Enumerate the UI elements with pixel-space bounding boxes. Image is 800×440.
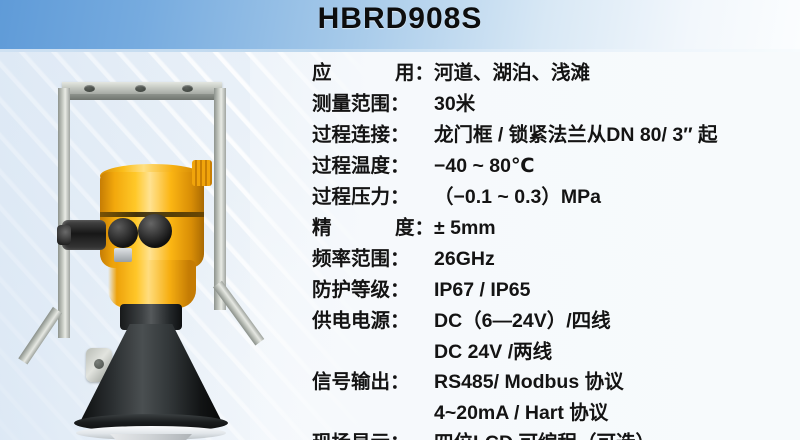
header-band: HBRD908S — [0, 0, 800, 52]
spec-row-measuring-range: 测量范围： 30米 — [312, 89, 782, 120]
spec-value-signal-output-2: 4~20mA / Hart 协议 — [434, 398, 782, 428]
spec-row-process-pressure: 过程压力： （−0.1 ~ 0.3）MPa — [312, 182, 782, 213]
bracket-mount-hole — [135, 85, 146, 92]
cable-gland-right — [138, 214, 172, 248]
spec-label-protection-class: 防护等级： — [312, 275, 434, 306]
bracket-right-post — [214, 88, 226, 310]
housing-vent-fins — [192, 160, 212, 186]
bracket-lower-arm-left — [18, 307, 62, 365]
spec-row-signal-output-continued: 4~20mA / Hart 协议 — [312, 398, 782, 428]
spec-value-signal-output: RS485/ Modbus 协议 — [434, 367, 782, 398]
spec-value-frequency-range: 26GHz — [434, 244, 782, 275]
spec-row-signal-output: 信号输出： RS485/ Modbus 协议 — [312, 367, 782, 398]
spec-label-accuracy: 精度： — [312, 213, 434, 244]
spec-row-accuracy: 精度： ± 5mm — [312, 213, 782, 244]
spec-row-application: 应用： 河道、湖泊、浅滩 — [312, 58, 782, 89]
spec-value-process-pressure: （−0.1 ~ 0.3）MPa — [434, 182, 782, 213]
spec-row-protection-class: 防护等级： IP67 / IP65 — [312, 275, 782, 306]
spec-label-power-supply: 供电电源： — [312, 306, 434, 337]
nameplate — [114, 248, 132, 262]
bracket-left-post — [58, 88, 70, 338]
spec-value-protection-class: IP67 / IP65 — [434, 275, 782, 306]
bracket-mount-hole — [182, 85, 193, 92]
spec-value-local-display: 四位LCD 可编程（可选） — [434, 428, 782, 440]
housing-lower-section — [108, 260, 196, 308]
spec-value-power-supply-2: DC 24V /两线 — [434, 337, 782, 367]
spec-row-power-supply-continued: DC 24V /两线 — [312, 337, 782, 367]
bracket-top-edge — [62, 94, 222, 100]
spec-value-accuracy: ± 5mm — [434, 213, 782, 244]
spec-label-local-display: 现场显示： — [312, 428, 434, 440]
bracket-mount-hole — [84, 85, 95, 92]
spec-value-power-supply: DC（6—24V）/四线 — [434, 306, 782, 337]
spec-label-application: 应用： — [312, 58, 434, 89]
cable-gland-center — [108, 218, 138, 248]
horn-antenna-cone-tip — [110, 434, 192, 440]
spec-label-process-pressure: 过程压力： — [312, 182, 434, 213]
spec-row-power-supply: 供电电源： DC（6—24V）/四线 — [312, 306, 782, 337]
spec-value-measuring-range: 30米 — [434, 89, 782, 120]
product-spec-sheet: HBRD908S 应用： 河 — [0, 0, 800, 440]
spec-label-measuring-range: 测量范围： — [312, 89, 434, 120]
spec-label-frequency-range: 频率范围： — [312, 244, 434, 275]
spec-row-process-connection: 过程连接： 龙门框 / 锁紧法兰从DN 80/ 3″ 起 — [312, 120, 782, 151]
spec-label-signal-output: 信号输出： — [312, 367, 434, 398]
spec-label-process-temperature: 过程温度： — [312, 151, 434, 182]
spec-value-process-connection: 龙门框 / 锁紧法兰从DN 80/ 3″ 起 — [434, 120, 782, 151]
spec-value-process-temperature: −40 ~ 80℃ — [434, 151, 782, 182]
spec-row-frequency-range: 频率范围： 26GHz — [312, 244, 782, 275]
specification-list: 应用： 河道、湖泊、浅滩 测量范围： 30米 过程连接： 龙门框 / 锁紧法兰从… — [312, 58, 782, 440]
spec-row-process-temperature: 过程温度： −40 ~ 80℃ — [312, 151, 782, 182]
spec-value-application: 河道、湖泊、浅滩 — [434, 58, 782, 89]
cable-gland-left — [62, 220, 106, 250]
spec-label-process-connection: 过程连接： — [312, 120, 434, 151]
product-image-radar-level-transmitter — [22, 52, 290, 440]
page-title: HBRD908S — [0, 2, 800, 36]
bracket-lower-arm-right — [213, 281, 264, 346]
spec-row-local-display: 现场显示： 四位LCD 可编程（可选） — [312, 428, 782, 440]
